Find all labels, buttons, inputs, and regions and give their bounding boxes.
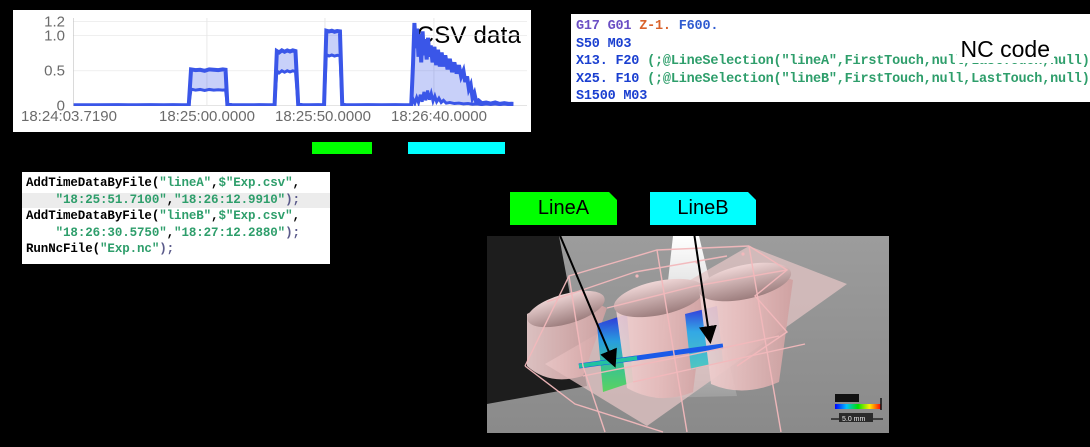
csv-chart-panel: CSV data 1.21.00.50 18:24:03.719018:25:0…: [13, 10, 531, 132]
chart-y-tick-label: 0.5: [44, 62, 65, 79]
scale-bar-label: 5.0 mm: [842, 416, 866, 423]
chart-plot-area: [73, 18, 527, 106]
nc-line-2: S50 M03: [576, 36, 631, 53]
nc-panel-title: NC code: [957, 36, 1054, 63]
code-token: "lineA": [159, 176, 211, 190]
code-token: );: [285, 193, 300, 207]
code-token: "18:25:51.7100": [56, 193, 167, 207]
simulation-3d-viewport[interactable]: 5.0 mm: [487, 236, 889, 433]
tag-lineb: LineB: [650, 192, 756, 225]
code-token: "18:26:12.9910": [174, 193, 285, 207]
tag-linea-label: LineA: [538, 197, 589, 220]
code-token: [26, 226, 56, 240]
tag-corner-fold-icon: [748, 192, 756, 200]
code-token: "lineB": [159, 209, 211, 223]
chart-x-tick-label: 18:25:50.0000: [275, 108, 371, 125]
tag-corner-fold-icon: [609, 192, 617, 200]
code-token: RunNcFile(: [26, 242, 100, 256]
tag-linea: LineA: [510, 192, 617, 225]
code-token: );: [159, 242, 174, 256]
tag-lineb-label: LineB: [677, 197, 728, 220]
legend-bar-lineb: [408, 142, 505, 154]
code-token: ,: [167, 193, 174, 207]
code-token: AddTimeDataByFile(: [26, 209, 159, 223]
code-token: (;@LineSelection("lineB",FirstTouch,null…: [647, 72, 1090, 87]
legend-bar-linea: [312, 142, 372, 154]
chart-x-tick-label: 18:24:03.7190: [21, 108, 117, 125]
code-token: X13. F20: [576, 54, 647, 69]
code-line-4: "18:26:30.5750","18:27:12.2880");: [26, 226, 300, 242]
chart-x-tick-label: 18:25:00.0000: [159, 108, 255, 125]
code-token: "18:26:30.5750": [56, 226, 167, 240]
code-line-3: AddTimeDataByFile("lineB",$"Exp.csv",: [26, 209, 300, 225]
script-code-panel: AddTimeDataByFile("lineA",$"Exp.csv", "1…: [22, 172, 330, 264]
code-token: $"Exp.csv": [218, 176, 292, 190]
code-token: [26, 193, 56, 207]
nc-line-1: G17 G01 Z-1. F600.: [576, 18, 718, 35]
code-token: X25. F10: [576, 72, 647, 87]
code-token: ,: [292, 209, 299, 223]
nc-line-5: S1500 M03: [576, 88, 647, 102]
code-token: S1500 M03: [576, 89, 647, 102]
code-token: ,: [292, 176, 299, 190]
chart-x-axis: 18:24:03.719018:25:00.000018:25:50.00001…: [13, 108, 531, 130]
nc-line-4: X25. F10 (;@LineSelection("lineB",FirstT…: [576, 71, 1090, 88]
code-line-2: "18:25:51.7100","18:26:12.9910");: [22, 193, 330, 209]
code-token: G17 G01: [576, 19, 639, 34]
code-token: AddTimeDataByFile(: [26, 176, 159, 190]
code-line-1: AddTimeDataByFile("lineA",$"Exp.csv",: [26, 176, 300, 192]
code-token: "18:27:12.2880": [174, 226, 285, 240]
code-token: S50 M03: [576, 37, 631, 52]
simulation-3d-svg: 5.0 mm: [487, 236, 889, 433]
chart-y-axis: 1.21.00.50: [13, 18, 65, 106]
code-token: );: [285, 226, 300, 240]
code-token: F600.: [679, 19, 719, 34]
code-line-5: RunNcFile("Exp.nc");: [26, 242, 174, 258]
nc-code-panel: NC code G17 G01 Z-1. F600.S50 M03X13. F2…: [571, 14, 1090, 102]
chart-y-tick-label: 1.0: [44, 27, 65, 44]
code-token: ,: [167, 226, 174, 240]
code-token: $"Exp.csv": [218, 209, 292, 223]
chart-svg: [73, 18, 527, 106]
code-token: Z-1.: [639, 19, 679, 34]
chart-x-tick-label: 18:26:40.0000: [391, 108, 487, 125]
code-token: "Exp.nc": [100, 242, 159, 256]
